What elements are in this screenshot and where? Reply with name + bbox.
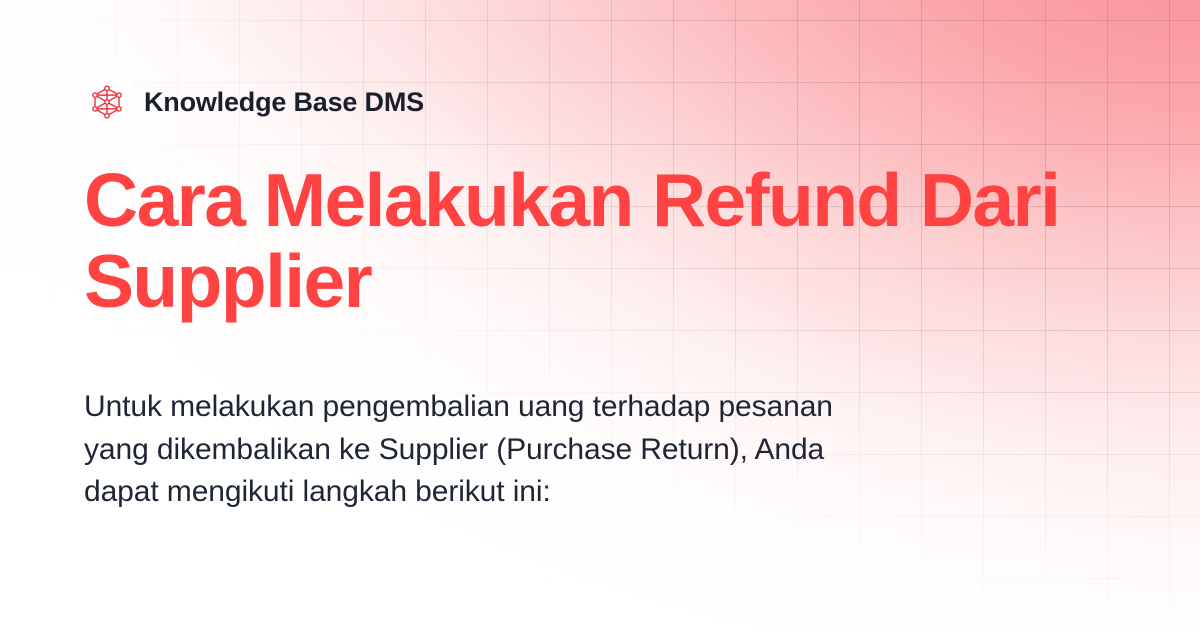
hexagonal-node-graph-icon — [84, 79, 130, 125]
card-content: Knowledge Base DMS Cara Melakukan Refund… — [84, 0, 1124, 630]
brand-name: Knowledge Base DMS — [144, 89, 424, 116]
og-card-canvas: Knowledge Base DMS Cara Melakukan Refund… — [0, 0, 1200, 630]
article-summary: Untuk melakukan pengembalian uang terhad… — [84, 386, 884, 514]
page-title: Cara Melakukan Refund Dari Supplier — [84, 160, 1094, 322]
brand-lockup: Knowledge Base DMS — [84, 79, 424, 125]
